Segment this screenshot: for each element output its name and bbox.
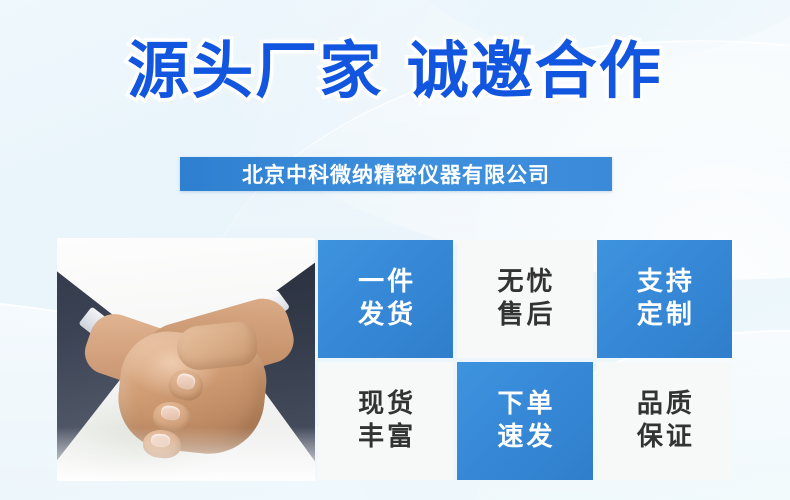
feature-cell-3-line1: 支持 xyxy=(634,266,695,299)
feature-cell-6[interactable]: 品质 保证 xyxy=(597,362,732,480)
feature-cell-1[interactable]: 一件 发货 xyxy=(318,240,453,358)
feature-cell-2[interactable]: 无忧 售后 xyxy=(457,240,592,358)
company-name-bar: 北京中科微纳精密仪器有限公司 xyxy=(180,157,612,191)
feature-cell-6-line2: 保证 xyxy=(634,421,695,454)
feature-cell-2-line2: 售后 xyxy=(494,299,555,332)
feature-grid: 一件 发货 无忧 售后 支持 定制 现货 丰富 下单 速发 品质 保证 xyxy=(318,240,732,480)
handshake-photo xyxy=(57,238,315,481)
feature-cell-4-line1: 现货 xyxy=(355,388,416,421)
headline-title: 源头厂家 诚邀合作 xyxy=(0,38,790,103)
feature-cell-1-line1: 一件 xyxy=(355,266,416,299)
feature-cell-4[interactable]: 现货 丰富 xyxy=(318,362,453,480)
feature-cell-3[interactable]: 支持 定制 xyxy=(597,240,732,358)
feature-cell-4-line2: 丰富 xyxy=(355,421,416,454)
feature-cell-5-line2: 速发 xyxy=(494,421,555,454)
feature-cell-1-line2: 发货 xyxy=(355,299,416,332)
company-name-text: 北京中科微纳精密仪器有限公司 xyxy=(242,159,550,189)
photo-canvas xyxy=(57,238,315,481)
feature-cell-6-line1: 品质 xyxy=(634,388,695,421)
feature-cell-5[interactable]: 下单 速发 xyxy=(457,362,592,480)
feature-cell-2-line1: 无忧 xyxy=(494,266,555,299)
feature-cell-5-line1: 下单 xyxy=(494,388,555,421)
promo-banner: 源头厂家 诚邀合作 北京中科微纳精密仪器有限公司 一件 发货 xyxy=(0,0,790,500)
feature-cell-3-line2: 定制 xyxy=(634,299,695,332)
thumb xyxy=(175,320,259,372)
photo-fade xyxy=(57,427,315,481)
